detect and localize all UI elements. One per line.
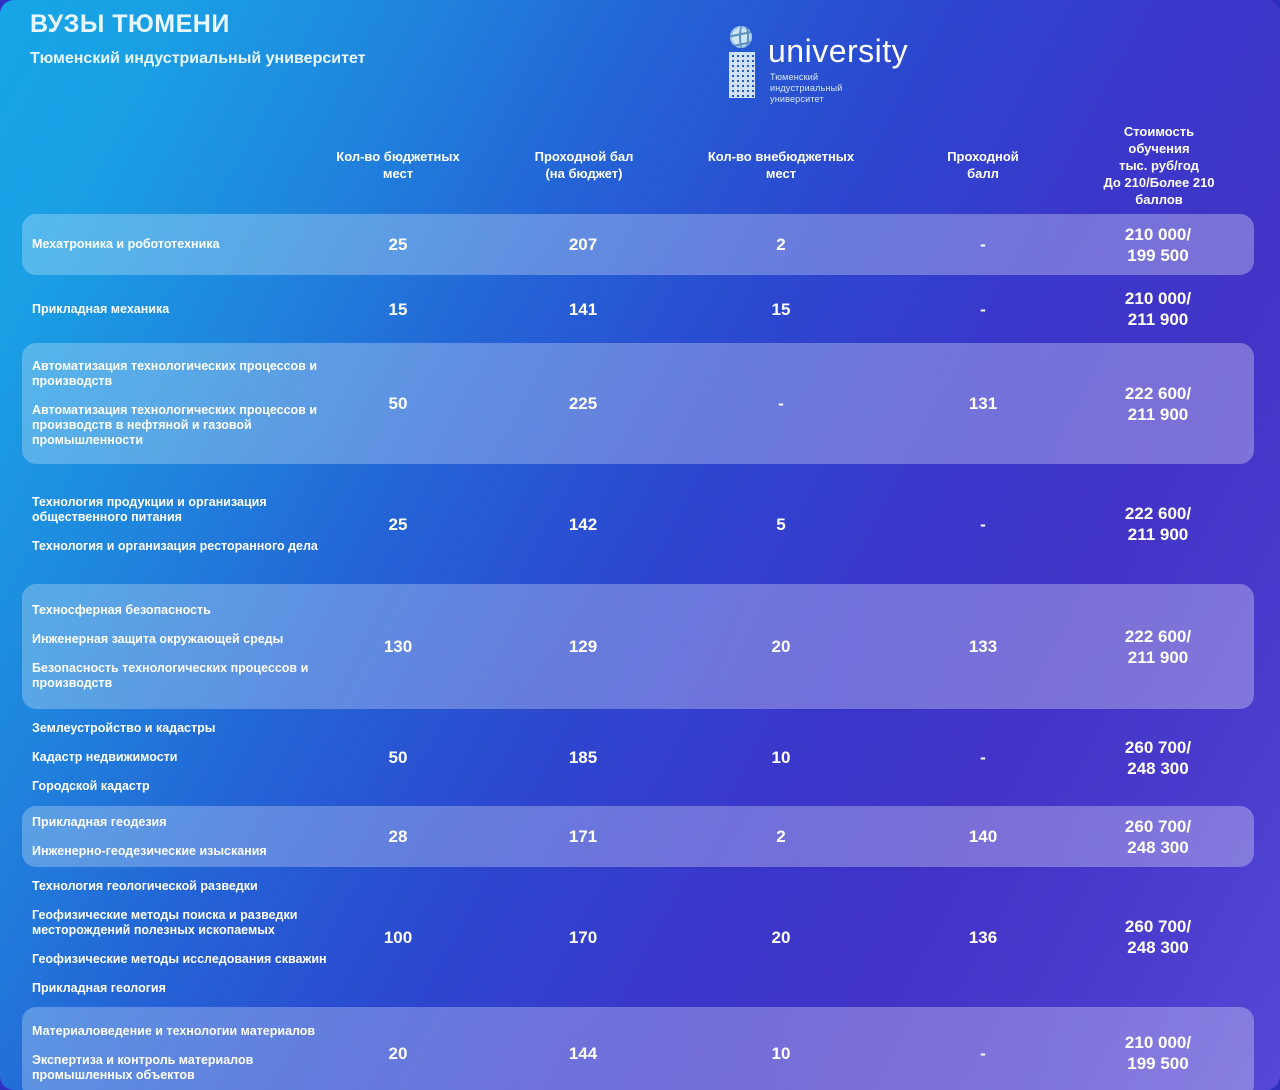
program-name: Автоматизация технологических процессов … xyxy=(32,403,332,448)
program-name: Геофизические методы поиска и разведки м… xyxy=(32,908,332,938)
cell-value: 210 000/ 199 500 xyxy=(1125,1032,1191,1074)
cell-paid-places: 15 xyxy=(706,275,856,343)
cell-paid-places: 20 xyxy=(706,584,856,709)
logo-subtext-line-1: Тюменский xyxy=(770,72,843,83)
program-name-list: Мехатроника и робототехника xyxy=(32,214,332,275)
program-name-list: Землеустройство и кадастрыКадастр недвиж… xyxy=(32,709,332,806)
program-name-list: Прикладная механика xyxy=(32,275,332,343)
cell-value: - xyxy=(980,514,986,535)
program-name: Прикладная механика xyxy=(32,302,332,317)
cell-paid-score: - xyxy=(910,275,1056,343)
cell-value: 2 xyxy=(776,234,785,255)
cell-tuition: 222 600/ 211 900 xyxy=(1078,464,1238,584)
table-row: Технология геологической разведкиГеофизи… xyxy=(0,867,1280,1007)
table-row: Автоматизация технологических процессов … xyxy=(0,343,1280,464)
cell-budget-places: 130 xyxy=(330,584,466,709)
cell-value: 25 xyxy=(389,234,408,255)
program-name: Инженерно-геодезические изыскания xyxy=(32,844,332,859)
cell-tuition: 210 000/ 211 900 xyxy=(1078,275,1238,343)
cell-budget-places: 50 xyxy=(330,343,466,464)
cell-budget-score: 129 xyxy=(512,584,654,709)
cell-paid-places: 2 xyxy=(706,214,856,275)
cell-budget-score: 170 xyxy=(512,867,654,1007)
cell-paid-score: - xyxy=(910,1007,1056,1090)
program-name: Мехатроника и робототехника xyxy=(32,237,332,252)
logo-subtext-line-2: индустриальный xyxy=(770,83,843,94)
cell-value: 10 xyxy=(772,1043,791,1064)
cell-paid-score: 131 xyxy=(910,343,1056,464)
row-content: Прикладная механика1514115-210 000/ 211 … xyxy=(0,275,1280,343)
cell-value: 136 xyxy=(969,927,997,948)
cell-value: 144 xyxy=(569,1043,597,1064)
cell-paid-places: 10 xyxy=(706,1007,856,1090)
cell-value: 25 xyxy=(389,514,408,535)
cell-value: 171 xyxy=(569,826,597,847)
cell-value: 222 600/ 211 900 xyxy=(1125,626,1191,668)
globe-icon xyxy=(730,26,752,48)
program-name: Экспертиза и контроль материалов промышл… xyxy=(32,1053,332,1083)
program-name: Прикладная геология xyxy=(32,981,332,996)
cell-budget-score: 225 xyxy=(512,343,654,464)
cell-value: 170 xyxy=(569,927,597,948)
program-name: Техносферная безопасность xyxy=(32,603,332,618)
cell-budget-places: 15 xyxy=(330,275,466,343)
program-name: Кадастр недвижимости xyxy=(32,750,332,765)
cell-value: 50 xyxy=(389,747,408,768)
cell-value: 222 600/ 211 900 xyxy=(1125,503,1191,545)
cell-value: 2 xyxy=(776,826,785,847)
table-row: Прикладная механика1514115-210 000/ 211 … xyxy=(0,275,1280,343)
program-name: Автоматизация технологических процессов … xyxy=(32,359,332,389)
cell-tuition: 210 000/ 199 500 xyxy=(1078,214,1238,275)
table-row: Техносферная безопасностьИнженерная защи… xyxy=(0,584,1280,709)
cell-value: - xyxy=(778,393,784,414)
logo-i-mark-icon xyxy=(726,26,760,98)
row-content: Техносферная безопасностьИнженерная защи… xyxy=(0,584,1280,709)
cell-paid-places: 10 xyxy=(706,709,856,806)
cell-value: 260 700/ 248 300 xyxy=(1125,737,1191,779)
cell-value: 129 xyxy=(569,636,597,657)
cell-value: 20 xyxy=(772,636,791,657)
cell-tuition: 222 600/ 211 900 xyxy=(1078,584,1238,709)
program-name: Геофизические методы исследования скважи… xyxy=(32,952,332,967)
cell-budget-score: 144 xyxy=(512,1007,654,1090)
cell-value: 10 xyxy=(772,747,791,768)
cell-value: 140 xyxy=(969,826,997,847)
program-name: Материаловедение и технологии материалов xyxy=(32,1024,332,1039)
cell-value: 133 xyxy=(969,636,997,657)
program-name: Технология продукции и организация общес… xyxy=(32,495,332,525)
program-name: Городской кадастр xyxy=(32,779,332,794)
table-row: Прикладная геодезияИнженерно-геодезическ… xyxy=(0,806,1280,867)
program-name: Технология и организация ресторанного де… xyxy=(32,539,332,554)
cell-value: 141 xyxy=(569,299,597,320)
cell-value: 207 xyxy=(569,234,597,255)
cell-paid-score: - xyxy=(910,214,1056,275)
program-name: Землеустройство и кадастры xyxy=(32,721,332,736)
cell-budget-score: 185 xyxy=(512,709,654,806)
cell-value: - xyxy=(980,299,986,320)
page-title: ВУЗЫ ТЮМЕНИ xyxy=(30,10,230,39)
program-name-list: Автоматизация технологических процессов … xyxy=(32,343,332,464)
cell-budget-score: 141 xyxy=(512,275,654,343)
logo-subtext-line-3: университет xyxy=(770,94,843,105)
cell-budget-places: 100 xyxy=(330,867,466,1007)
poster-root: ВУЗЫ ТЮМЕНИ Тюменский индустриальный уни… xyxy=(0,0,1280,1090)
program-name-list: Материаловедение и технологии материалов… xyxy=(32,1007,332,1090)
cell-value: 15 xyxy=(389,299,408,320)
cell-paid-score: 136 xyxy=(910,867,1056,1007)
column-header-tuition: Стоимость обучения тыс. руб/год До 210/Б… xyxy=(1078,123,1240,208)
row-content: Технология геологической разведкиГеофизи… xyxy=(0,867,1280,1007)
column-header-budget_places: Кол-во бюджетных мест xyxy=(318,148,478,182)
cell-budget-places: 20 xyxy=(330,1007,466,1090)
cell-value: 50 xyxy=(389,393,408,414)
university-logo: university Тюменский индустриальный унив… xyxy=(726,26,906,104)
row-content: Автоматизация технологических процессов … xyxy=(0,343,1280,464)
cell-budget-score: 171 xyxy=(512,806,654,867)
logo-bars-icon xyxy=(729,52,755,98)
cell-value: 28 xyxy=(389,826,408,847)
program-name-list: Техносферная безопасностьИнженерная защи… xyxy=(32,584,332,709)
column-header-paid_places: Кол-во внебюджетных мест xyxy=(690,148,872,182)
cell-paid-places: 2 xyxy=(706,806,856,867)
cell-tuition: 260 700/ 248 300 xyxy=(1078,806,1238,867)
cell-paid-score: - xyxy=(910,709,1056,806)
cell-value: 20 xyxy=(772,927,791,948)
cell-tuition: 210 000/ 199 500 xyxy=(1078,1007,1238,1090)
cell-tuition: 222 600/ 211 900 xyxy=(1078,343,1238,464)
program-name: Прикладная геодезия xyxy=(32,815,332,830)
cell-budget-places: 28 xyxy=(330,806,466,867)
cell-value: 210 000/ 211 900 xyxy=(1125,288,1191,330)
cell-value: 185 xyxy=(569,747,597,768)
cell-value: 210 000/ 199 500 xyxy=(1125,224,1191,266)
table-row: Мехатроника и робототехника252072-210 00… xyxy=(0,214,1280,275)
table-row: Материаловедение и технологии материалов… xyxy=(0,1007,1280,1090)
cell-value: 225 xyxy=(569,393,597,414)
cell-budget-places: 25 xyxy=(330,464,466,584)
cell-budget-score: 142 xyxy=(512,464,654,584)
cell-budget-score: 207 xyxy=(512,214,654,275)
cell-value: - xyxy=(980,747,986,768)
row-content: Материаловедение и технологии материалов… xyxy=(0,1007,1280,1090)
column-header-budget_score: Проходной бал (на бюджет) xyxy=(505,148,663,182)
poster-header: ВУЗЫ ТЮМЕНИ Тюменский индустриальный уни… xyxy=(0,0,1280,118)
cell-value: - xyxy=(980,234,986,255)
cell-paid-score: - xyxy=(910,464,1056,584)
cell-value: 222 600/ 211 900 xyxy=(1125,383,1191,425)
row-content: Прикладная геодезияИнженерно-геодезическ… xyxy=(0,806,1280,867)
program-name: Технология геологической разведки xyxy=(32,879,332,894)
logo-subtext: Тюменский индустриальный университет xyxy=(770,72,843,105)
program-name-list: Технология продукции и организация общес… xyxy=(32,464,332,584)
cell-tuition: 260 700/ 248 300 xyxy=(1078,709,1238,806)
cell-value: 100 xyxy=(384,927,412,948)
cell-value: 260 700/ 248 300 xyxy=(1125,916,1191,958)
cell-paid-score: 133 xyxy=(910,584,1056,709)
cell-paid-score: 140 xyxy=(910,806,1056,867)
cell-budget-places: 50 xyxy=(330,709,466,806)
cell-value: 131 xyxy=(969,393,997,414)
logo-wordmark: university xyxy=(768,34,908,68)
row-content: Мехатроника и робототехника252072-210 00… xyxy=(0,214,1280,275)
cell-paid-places: - xyxy=(706,343,856,464)
column-header-paid_score: Проходной балл xyxy=(910,148,1056,182)
cell-paid-places: 20 xyxy=(706,867,856,1007)
program-name-list: Технология геологической разведкиГеофизи… xyxy=(32,867,332,1007)
program-name: Безопасность технологических процессов и… xyxy=(32,661,332,691)
program-name-list: Прикладная геодезияИнженерно-геодезическ… xyxy=(32,806,332,867)
cell-value: 5 xyxy=(776,514,785,535)
cell-tuition: 260 700/ 248 300 xyxy=(1078,867,1238,1007)
table-row: Землеустройство и кадастрыКадастр недвиж… xyxy=(0,709,1280,806)
cell-value: 130 xyxy=(384,636,412,657)
cell-budget-places: 25 xyxy=(330,214,466,275)
cell-value: 142 xyxy=(569,514,597,535)
cell-value: - xyxy=(980,1043,986,1064)
cell-value: 20 xyxy=(389,1043,408,1064)
row-content: Технология продукции и организация общес… xyxy=(0,464,1280,584)
cell-value: 260 700/ 248 300 xyxy=(1125,816,1191,858)
cell-value: 15 xyxy=(772,299,791,320)
cell-paid-places: 5 xyxy=(706,464,856,584)
programs-table: Мехатроника и робототехника252072-210 00… xyxy=(0,214,1280,1090)
page-subtitle: Тюменский индустриальный университет xyxy=(30,50,365,68)
row-content: Землеустройство и кадастрыКадастр недвиж… xyxy=(0,709,1280,806)
table-row: Технология продукции и организация общес… xyxy=(0,464,1280,584)
program-name: Инженерная защита окружающей среды xyxy=(32,632,332,647)
